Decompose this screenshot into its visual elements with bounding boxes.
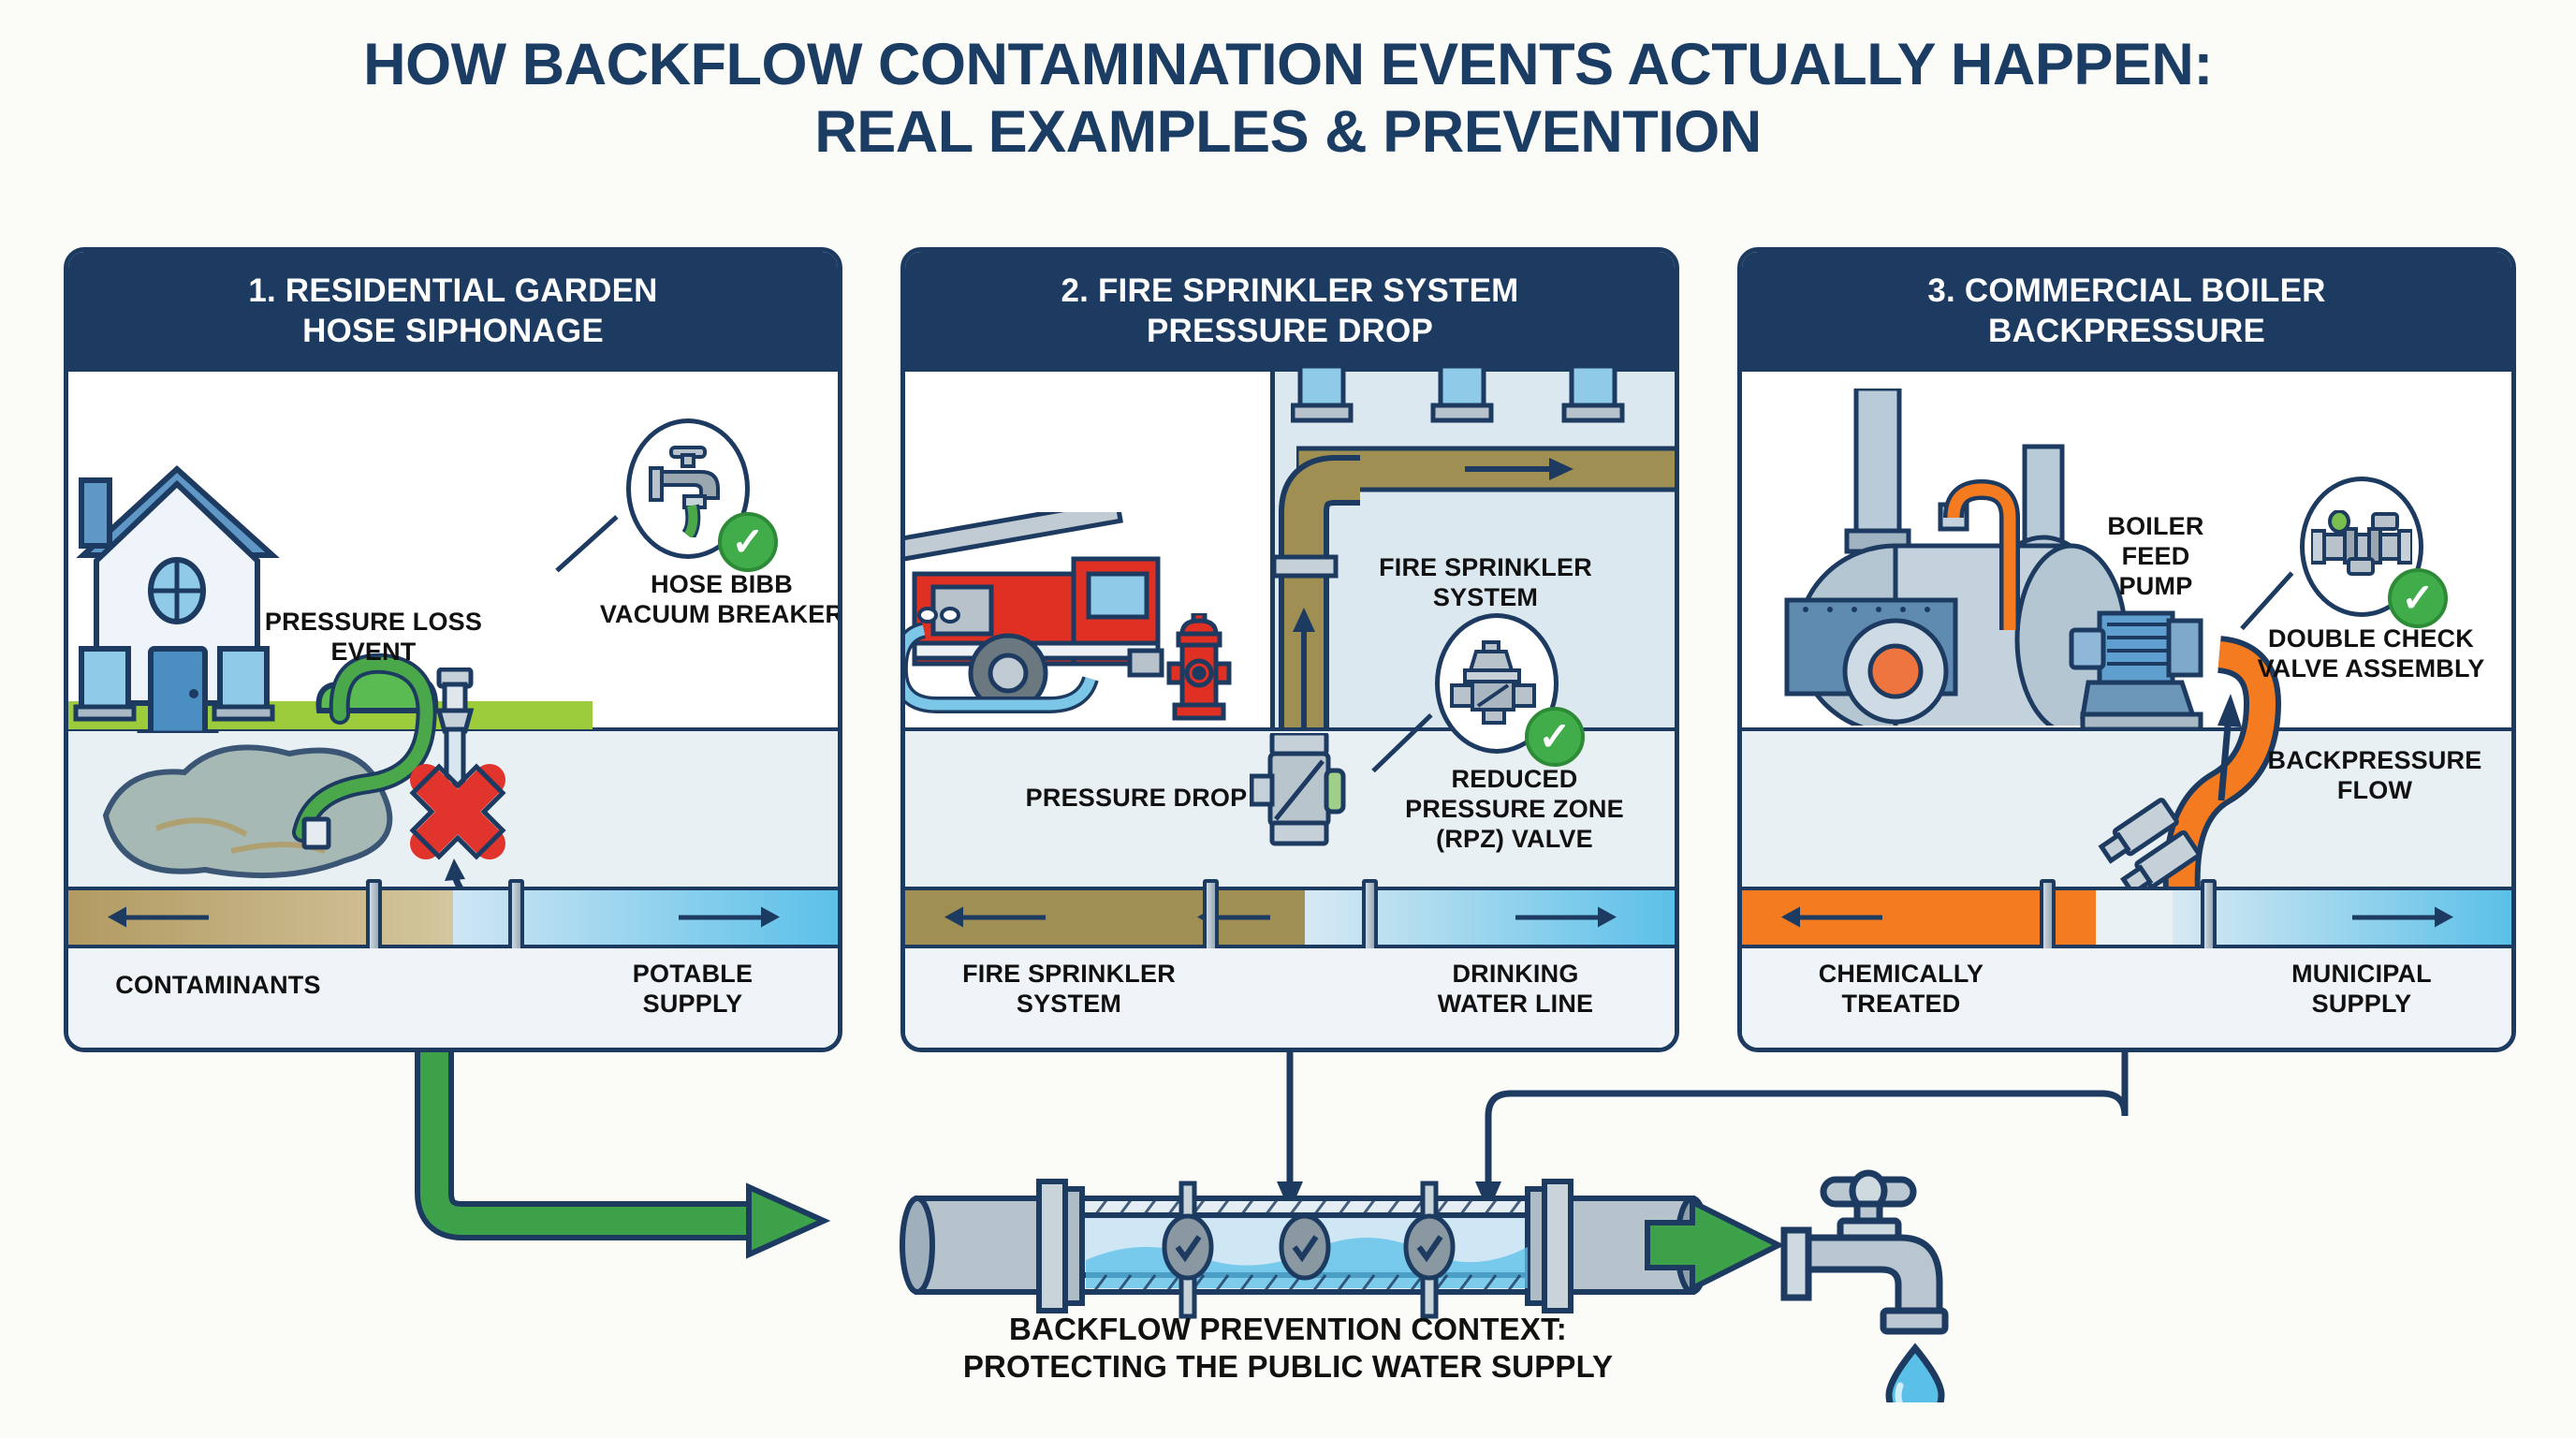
panel-2-header: 2. FIRE SPRINKLER SYSTEM PRESSURE DROP: [905, 252, 1675, 372]
panel-residential-garden-hose[interactable]: 1. RESIDENTIAL GARDEN HOSE SIPHONAGE: [64, 247, 842, 1052]
sprinkler-flow-arrow: [961, 916, 1046, 920]
panel-3-right-pipe-label: MUNICIPAL SUPPLY: [2221, 960, 2502, 1020]
panel-2-right-pipe-label: DRINKING WATER LINE: [1366, 960, 1665, 1020]
panel-1-scene-label: PRESSURE LOSS EVENT: [252, 608, 495, 668]
contaminant-flow-arrow: [124, 916, 209, 920]
panel-1-header: 1. RESIDENTIAL GARDEN HOSE SIPHONAGE: [68, 252, 838, 372]
panel-1-left-pipe-label: CONTAMINANTS: [78, 971, 359, 1001]
panel-fire-sprinkler-pressure-drop[interactable]: 2. FIRE SPRINKLER SYSTEM PRESSURE DROP: [900, 247, 1679, 1052]
panel-2-left-pipe-label: FIRE SPRINKLER SYSTEM: [915, 960, 1223, 1020]
panel-2-pressure-drop-label: PRESSURE DROP: [1019, 784, 1253, 814]
dcva-status-check-icon: ✓: [2388, 568, 2448, 628]
panel-3-backpressure-label: BACKPRESSURE FLOW: [2234, 746, 2515, 806]
title-line-2: REAL EXAMPLES & PREVENTION: [0, 99, 2576, 167]
title-line-1: HOW BACKFLOW CONTAMINATION EVENTS ACTUAL…: [0, 32, 2576, 99]
panel-1-header-line1: 1. RESIDENTIAL GARDEN: [248, 271, 657, 312]
rpz-valve-body: [1250, 733, 1362, 864]
panel-2-header-line1: 2. FIRE SPRINKLER SYSTEM: [1061, 271, 1518, 312]
panel-1-body: PRESSURE LOSS EVENT ✓ HOSE BIBB: [68, 372, 838, 1052]
faucet-hose-icon: [643, 440, 733, 537]
bottom-caption: BACKFLOW PREVENTION CONTEXT: PROTECTING …: [0, 1311, 2576, 1387]
bottom-caption-line1: BACKFLOW PREVENTION CONTEXT:: [0, 1311, 2576, 1348]
double-check-valve-icon: [2311, 510, 2412, 583]
panel-2-main-pipe: [905, 887, 1675, 948]
rpz-valve-icon: [1450, 640, 1544, 726]
panel-3-left-pipe-label: CHEMICALLY TREATED: [1751, 960, 2051, 1020]
panel-3-main-pipe: [1742, 887, 2511, 948]
rpz-callout-label: REDUCED PRESSURE ZONE (RPZ) VALVE: [1360, 765, 1669, 855]
panel-1-right-pipe-label: POTABLE SUPPLY: [557, 960, 828, 1020]
bottom-caption-line2: PROTECTING THE PUBLIC WATER SUPPLY: [0, 1348, 2576, 1386]
panel-3-header-line1: 3. COMMERCIAL BOILER: [1927, 271, 2325, 312]
rpz-status-check-icon: ✓: [1525, 707, 1585, 767]
potable-flow-arrow: [679, 916, 763, 920]
panel-2-body: FIRE SPRINKLER SYSTEM PRESSURE DROP: [905, 372, 1675, 1052]
panel-3-header: 3. COMMERCIAL BOILER BACKPRESSURE: [1742, 252, 2511, 372]
dcva-callout-label: DOUBLE CHECK VALVE ASSEMBLY: [2225, 624, 2516, 684]
municipal-flow-arrow: [2352, 916, 2437, 920]
municipal-supply-segment: [2173, 890, 2511, 945]
drinking-water-flow-arrow: [1515, 916, 1600, 920]
contamination-entry-arrow: [1214, 916, 1270, 920]
check-valve-disc: [1281, 1216, 1328, 1278]
panel-1-header-line2: HOSE SIPHONAGE: [302, 312, 604, 352]
sprinkler-heads: [1291, 366, 1665, 432]
page-title: HOW BACKFLOW CONTAMINATION EVENTS ACTUAL…: [0, 32, 2576, 167]
fire-hydrant-icon: [1160, 613, 1244, 735]
panel-3-body: BOILER FEED PUMP ✓ DO: [1742, 372, 2511, 1052]
panel-3-header-line2: BACKPRESSURE: [1988, 312, 2265, 352]
panel-commercial-boiler-backpressure[interactable]: 3. COMMERCIAL BOILER BACKPRESSURE: [1737, 247, 2516, 1052]
chemically-treated-flow-arrow: [1798, 916, 1882, 920]
hose-bibb-callout-label: HOSE BIBB VACUUM BREAKER: [581, 570, 842, 630]
panel-3-scene-label: BOILER FEED PUMP: [2071, 512, 2240, 602]
panel-2-header-line2: PRESSURE DROP: [1147, 312, 1433, 352]
drinking-water-segment: [1305, 890, 1675, 945]
hose-bibb-status-check-icon: ✓: [718, 512, 778, 572]
panel-1-main-pipe: [68, 887, 838, 948]
panel-2-scene-label: FIRE SPRINKLER SYSTEM: [1345, 553, 1626, 613]
